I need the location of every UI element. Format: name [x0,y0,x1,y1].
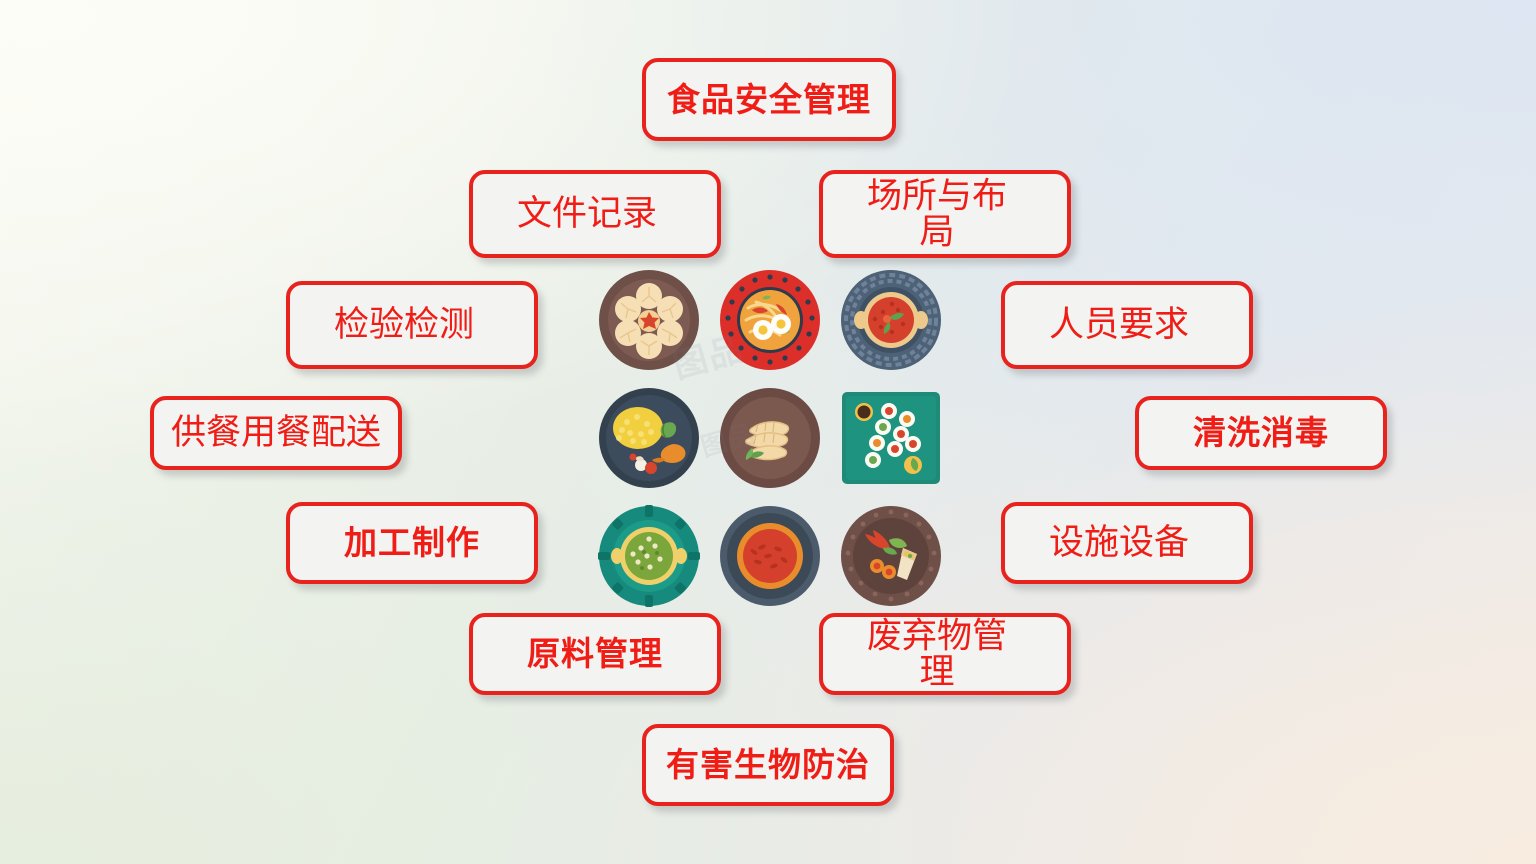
food-item-red-sauce-dark-bowl [718,504,822,608]
node-label: 文件记录 [473,196,717,232]
node-gongcan-peisong[interactable]: 供餐用餐配送 [150,396,402,470]
node-wenjian-jilu[interactable]: 文件记录 [469,170,721,258]
node-label: 检验检测 [290,307,534,343]
node-label: 人员要求 [1005,307,1249,343]
food-illustration-grid [597,268,943,608]
food-item-dumplings-dark-plate [718,386,822,490]
node-youhai-fangzhi[interactable]: 有害生物防治 [642,724,894,806]
node-changsuo-buju[interactable]: 场所与布局 [819,170,1071,258]
node-label: 清洗消毒 [1139,416,1383,450]
food-item-rice-chicken-plate [597,386,701,490]
food-item-dumplings-brown-plate [597,268,701,372]
node-label: 废弃物管理 [823,618,1067,689]
node-label: 有害生物防治 [646,748,890,782]
node-renyuan-yaoqiu[interactable]: 人员要求 [1001,281,1253,369]
node-center-title[interactable]: 食品安全管理 [642,58,896,141]
node-qingxi-xiaodu[interactable]: 清洗消毒 [1135,396,1387,470]
food-item-tomato-stew-blue-pot [839,268,943,372]
node-label: 加工制作 [290,526,534,560]
node-jiagong-zhizuo[interactable]: 加工制作 [286,502,538,584]
node-feiqiwu-guanli[interactable]: 废弃物管理 [819,613,1071,695]
node-label: 食品安全管理 [646,83,892,117]
node-jianyan-jiance[interactable]: 检验检测 [286,281,538,369]
node-label: 设施设备 [1005,525,1249,561]
food-item-green-soup-teal-bowl [597,504,701,608]
node-sheshi-shebei[interactable]: 设施设备 [1001,502,1253,584]
node-yuanliao-guanli[interactable]: 原料管理 [469,613,721,695]
food-item-noodle-egg-red-plate [718,268,822,372]
node-label: 原料管理 [473,637,717,671]
node-label: 供餐用餐配送 [154,415,398,451]
food-item-sushi-green-board [839,386,943,490]
food-item-taco-veg-brown-plate [839,504,943,608]
slide-canvas: 图品 图品 食品安全管理 文件记录 场所与布局 检验检测 人员要求 供餐用餐配送… [0,0,1536,864]
node-label: 场所与布局 [823,178,1067,249]
